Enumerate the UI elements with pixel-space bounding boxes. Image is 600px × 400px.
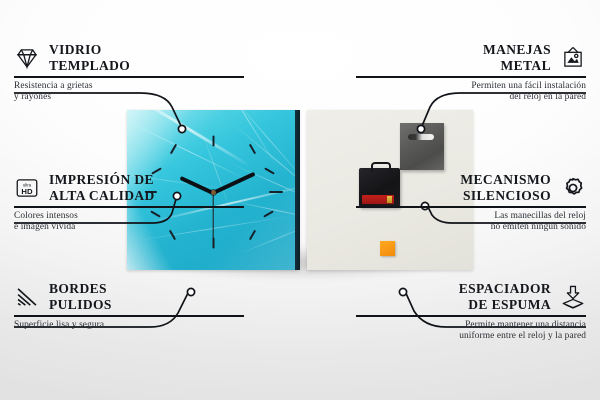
feature-title: MANEJAS METAL <box>483 42 551 73</box>
clock-glass-edge <box>295 110 300 270</box>
feature-title: MECANISMO SILENCIOSO <box>460 172 551 203</box>
feature-title: VIDRIO TEMPLADO <box>49 42 130 73</box>
infographic-stage: VIDRIO TEMPLADO Resistencia a grietas y … <box>0 0 600 400</box>
feature-divider <box>356 315 586 317</box>
feature-description: Superficie lisa y segura <box>14 320 244 332</box>
polished-edge-icon <box>14 284 40 310</box>
hanging-picture-icon <box>560 45 586 71</box>
feature-description: Permiten una fácil instalación del reloj… <box>356 81 586 104</box>
feature-header: MANEJAS METAL <box>356 42 586 73</box>
feature-header: ESPACIADOR DE ESPUMA <box>356 281 586 312</box>
feature-title: IMPRESIÓN DE ALTA CALIDAD <box>49 172 155 203</box>
mechanism-hook <box>371 162 391 172</box>
feature-divider <box>14 76 244 78</box>
hanger-slot <box>408 134 434 140</box>
svg-text:HD: HD <box>21 187 33 196</box>
feature-mecanismo-silencioso: MECANISMO SILENCIOSO Las manecillas del … <box>356 172 586 234</box>
feature-bordes-pulidos: BORDES PULIDOS Superficie lisa y segura <box>14 281 244 331</box>
ultra-hd-icon: ultra HD <box>14 175 40 201</box>
feature-espaciador-espuma: ESPACIADOR DE ESPUMA Permite mantener un… <box>356 281 586 343</box>
feature-divider <box>356 76 586 78</box>
feature-header: MECANISMO SILENCIOSO <box>356 172 586 203</box>
feature-manejas-metal: MANEJAS METAL Permiten una fácil instala… <box>356 42 586 104</box>
feature-description: Resistencia a grietas y rayones <box>14 81 244 104</box>
feature-header: BORDES PULIDOS <box>14 281 244 312</box>
feature-description: Las manecillas del reloj no emiten ningú… <box>356 211 586 234</box>
foam-spacer <box>380 241 395 256</box>
feature-vidrio-templado: VIDRIO TEMPLADO Resistencia a grietas y … <box>14 42 244 104</box>
metal-hanger-plate <box>400 123 444 170</box>
feature-header: VIDRIO TEMPLADO <box>14 42 244 73</box>
feature-title: BORDES PULIDOS <box>49 281 112 312</box>
gear-icon <box>560 175 586 201</box>
feature-divider <box>14 206 244 208</box>
diamond-icon <box>14 45 40 71</box>
feature-description: Permite mantener una distancia uniforme … <box>356 320 586 343</box>
feature-divider <box>14 315 244 317</box>
feature-impresion-alta-calidad: ultra HD IMPRESIÓN DE ALTA CALIDAD Color… <box>14 172 244 234</box>
feature-header: ultra HD IMPRESIÓN DE ALTA CALIDAD <box>14 172 244 203</box>
feature-title: ESPACIADOR DE ESPUMA <box>459 281 551 312</box>
arrow-down-stack-icon <box>560 284 586 310</box>
feature-description: Colores intensos e imagen vívida <box>14 211 244 234</box>
feature-divider <box>356 206 586 208</box>
